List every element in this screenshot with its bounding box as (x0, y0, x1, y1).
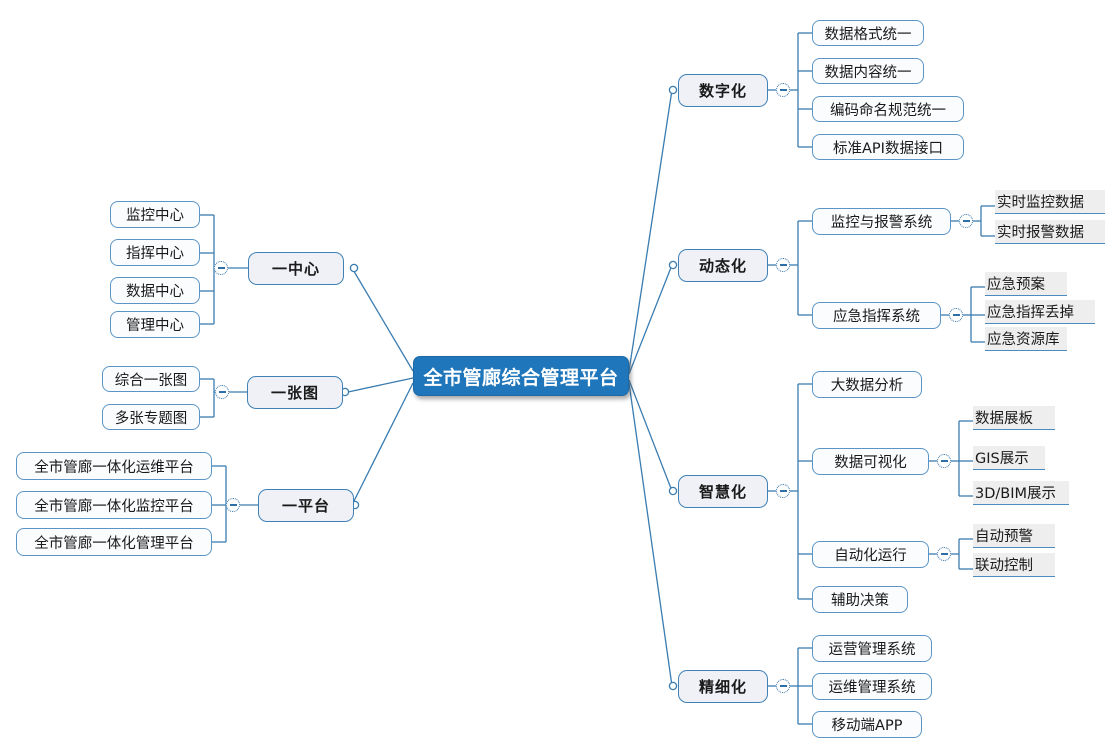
collapse-toggle-yipingtai[interactable] (226, 498, 240, 512)
node-bianma-mingming-tongyi[interactable]: 编码命名规范统一 (812, 96, 964, 122)
leaf-label: 自动预警 (975, 525, 1033, 546)
branch-shuzihua[interactable]: 数字化 (678, 74, 768, 107)
node-yunying-guanli-xitong[interactable]: 运营管理系统 (812, 635, 932, 662)
leaf-gis-zhanshi[interactable]: GIS展示 (973, 446, 1045, 470)
branch-yizhangtu-label: 一张图 (271, 382, 319, 403)
node-label: 全市管廊一体化监控平台 (34, 495, 194, 516)
node-label: 综合一张图 (115, 369, 188, 390)
leaf-label: 3D/BIM展示 (975, 482, 1056, 503)
node-label: 编码命名规范统一 (830, 99, 946, 120)
node-label: 移动端APP (832, 714, 903, 735)
collapse-toggle-zidonghua-yunxing[interactable] (937, 547, 951, 561)
node-biaozhun-api-jiekou[interactable]: 标准API数据接口 (812, 134, 964, 160)
leaf-label: 数据展板 (975, 407, 1033, 428)
node-label: 全市管廊一体化运维平台 (34, 456, 194, 477)
leaf-label: GIS展示 (975, 447, 1029, 468)
root-node[interactable]: 全市管廊综合管理平台 (413, 356, 629, 396)
node-label: 全市管廊一体化管理平台 (34, 532, 194, 553)
collapse-toggle-jingxihua[interactable] (776, 679, 790, 693)
node-label: 监控与报警系统 (831, 211, 933, 232)
branch-yipingtai[interactable]: 一平台 (258, 489, 354, 522)
mind-map-canvas: 全市管廊综合管理平台 一中心 监控中心 指挥中心 数据中心 管理中心 一张图 综… (0, 0, 1112, 752)
node-label: 数据格式统一 (825, 23, 912, 44)
node-zonghe-yizhangtu[interactable]: 综合一张图 (102, 366, 200, 392)
collapse-toggle-yizhangtu[interactable] (215, 385, 229, 399)
node-label: 数据可视化 (834, 451, 907, 472)
collapse-toggle-shuzihua[interactable] (776, 83, 790, 97)
collapse-toggle-jiankong-baojing[interactable] (959, 214, 973, 228)
leaf-label: 应急指挥丢掉 (987, 301, 1074, 322)
node-jiankong-pingtai[interactable]: 全市管廊一体化监控平台 (16, 491, 212, 519)
branch-jingxihua-label: 精细化 (699, 676, 747, 697)
node-shuju-keshihua[interactable]: 数据可视化 (812, 448, 929, 475)
leaf-liandong-kongzhi[interactable]: 联动控制 (973, 553, 1055, 577)
branch-shuzihua-label: 数字化 (699, 80, 747, 101)
leaf-yingji-zhihui-diudiao[interactable]: 应急指挥丢掉 (985, 300, 1095, 324)
branch-jingxihua[interactable]: 精细化 (678, 670, 768, 703)
node-yunwei-pingtai[interactable]: 全市管廊一体化运维平台 (16, 452, 212, 480)
node-label: 多张专题图 (115, 407, 188, 428)
leaf-yingji-ziyuanku[interactable]: 应急资源库 (985, 327, 1067, 351)
node-jiankong-baojing-xitong[interactable]: 监控与报警系统 (812, 208, 951, 235)
node-zidonghua-yunxing[interactable]: 自动化运行 (812, 541, 929, 568)
node-label: 标准API数据接口 (833, 137, 943, 158)
branch-yipingtai-label: 一平台 (282, 495, 330, 516)
branch-dongtaihua-label: 动态化 (699, 255, 747, 276)
collapse-toggle-dongtaihua[interactable] (776, 258, 790, 272)
node-label: 数据中心 (126, 280, 184, 301)
leaf-label: 实时报警数据 (997, 221, 1084, 242)
branch-yizhongxin-label: 一中心 (272, 258, 320, 279)
node-label: 大数据分析 (831, 374, 904, 395)
node-fuzhu-juece[interactable]: 辅助决策 (812, 586, 908, 613)
leaf-label: 应急预案 (987, 273, 1045, 294)
branch-yizhongxin[interactable]: 一中心 (248, 252, 344, 285)
leaf-shishi-baojing-shuju[interactable]: 实时报警数据 (995, 220, 1105, 244)
node-label: 管理中心 (126, 314, 184, 335)
collapse-toggle-yingji-zhihui[interactable] (949, 308, 963, 322)
leaf-shishi-jiankong-shuju[interactable]: 实时监控数据 (995, 190, 1105, 214)
leaf-yingji-yuan[interactable]: 应急预案 (985, 272, 1067, 296)
node-yingji-zhihui-xitong[interactable]: 应急指挥系统 (812, 302, 941, 329)
node-label: 辅助决策 (831, 589, 889, 610)
node-duozhang-zhuantitu[interactable]: 多张专题图 (102, 404, 200, 430)
node-zhihui-zhongxin[interactable]: 指挥中心 (110, 239, 200, 266)
leaf-zidong-yujing[interactable]: 自动预警 (973, 524, 1055, 548)
node-label: 自动化运行 (834, 544, 907, 565)
branch-dongtaihua[interactable]: 动态化 (678, 249, 768, 282)
node-guanli-zhongxin[interactable]: 管理中心 (110, 311, 200, 338)
node-label: 运维管理系统 (829, 676, 916, 697)
node-shuju-neirong-tongyi[interactable]: 数据内容统一 (812, 58, 924, 84)
leaf-label: 应急资源库 (987, 328, 1060, 349)
node-label: 指挥中心 (126, 242, 184, 263)
node-label: 应急指挥系统 (833, 305, 920, 326)
node-shuju-geshi-tongyi[interactable]: 数据格式统一 (812, 20, 924, 46)
root-node-label: 全市管廊综合管理平台 (423, 363, 618, 390)
node-dashuju-fenxi[interactable]: 大数据分析 (812, 371, 922, 398)
collapse-toggle-yizhongxin[interactable] (214, 261, 228, 275)
node-jiankong-zhongxin[interactable]: 监控中心 (110, 201, 200, 228)
collapse-toggle-zhihuihua[interactable] (776, 484, 790, 498)
branch-yizhangtu[interactable]: 一张图 (247, 376, 343, 409)
leaf-3dbim-zhanshi[interactable]: 3D/BIM展示 (973, 481, 1069, 505)
node-yidongduan-app[interactable]: 移动端APP (812, 711, 922, 738)
branch-zhihuihua[interactable]: 智慧化 (678, 475, 768, 508)
node-shuju-zhongxin[interactable]: 数据中心 (110, 277, 200, 304)
node-guanli-pingtai[interactable]: 全市管廊一体化管理平台 (16, 528, 212, 556)
node-label: 运营管理系统 (829, 638, 916, 659)
node-yunwei-guanli-xitong[interactable]: 运维管理系统 (812, 673, 932, 700)
leaf-shuju-zhanban[interactable]: 数据展板 (973, 406, 1055, 430)
leaf-label: 实时监控数据 (997, 191, 1084, 212)
branch-zhihuihua-label: 智慧化 (699, 481, 747, 502)
leaf-label: 联动控制 (975, 554, 1033, 575)
node-label: 监控中心 (126, 204, 184, 225)
collapse-toggle-shuju-keshihua[interactable] (937, 454, 951, 468)
node-label: 数据内容统一 (825, 61, 912, 82)
